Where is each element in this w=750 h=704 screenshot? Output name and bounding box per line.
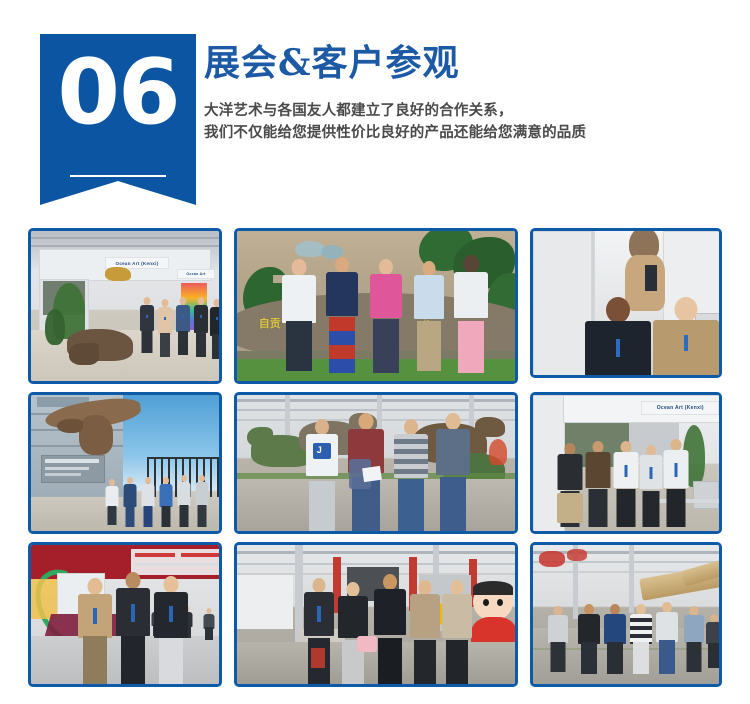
gallery-photo[interactable]: 自贡 市 恐 龙 园 [234,228,519,384]
photo-scene-booth-meeting-pair [533,231,719,375]
gallery-row: Ocean Art (Kenxi) Ocean Art [0,228,750,384]
page-header: 06 展会&客户参观 大洋艺术与各国友人都建立了良好的合作关系， 我们不仅能给您… [0,0,750,215]
photo-gallery: Ocean Art (Kenxi) Ocean Art [0,215,750,704]
gallery-row: J [0,392,750,534]
photo-scene-expo-booth-team: Ocean Art (Kenxi) Ocean Art [31,231,219,381]
gallery-photo[interactable] [530,542,722,687]
gallery-row [0,542,750,687]
booth-sign-secondary: Ocean Art [177,269,215,279]
page-subtitle-line-2: 我们不仅能给您提供性价比良好的产品还能给您满意的品质 [204,122,734,144]
gallery-photo[interactable] [28,392,222,534]
section-number-ribbon: 06 [40,34,196,205]
booth-sign-label: Ocean Art (Kenxi) [641,401,719,415]
page-subtitle-line-1: 大洋艺术与各国友人都建立了良好的合作关系， [204,100,734,122]
gallery-photo[interactable] [234,542,519,687]
rock-inscription: 自贡 [259,315,281,331]
gallery-photo[interactable]: Ocean Art (Kenxi) [530,392,722,534]
gallery-photo[interactable]: J [234,392,519,534]
page-subtitle: 大洋艺术与各国友人都建立了良好的合作关系， 我们不仅能给您提供性价比良好的产品还… [204,100,734,144]
section-number: 06 [40,40,196,146]
gallery-photo[interactable]: Ocean Art (Kenxi) Ocean Art [28,228,222,384]
header-text-block: 展会&客户参观 大洋艺术与各国友人都建立了良好的合作关系， 我们不仅能给您提供性… [204,40,734,144]
photo-scene-pterosaur-plaza-group [31,395,219,531]
ribbon-divider-line [70,175,166,177]
photo-scene-workshop-walkthrough-group [533,545,719,684]
photo-scene-factory-mascot-group [237,545,516,684]
page-title: 展会&客户参观 [204,40,734,86]
gallery-photo[interactable] [28,542,222,687]
photo-scene-factory-dinosaurs-group: J [237,395,516,531]
photo-scene-expo-booth-visitors: Ocean Art (Kenxi) [533,395,719,531]
photo-scene-expo-aisle-trio [31,545,219,684]
gallery-photo[interactable] [530,228,722,378]
photo-scene-zigong-rock-group: 自贡 市 恐 龙 园 [237,231,516,381]
